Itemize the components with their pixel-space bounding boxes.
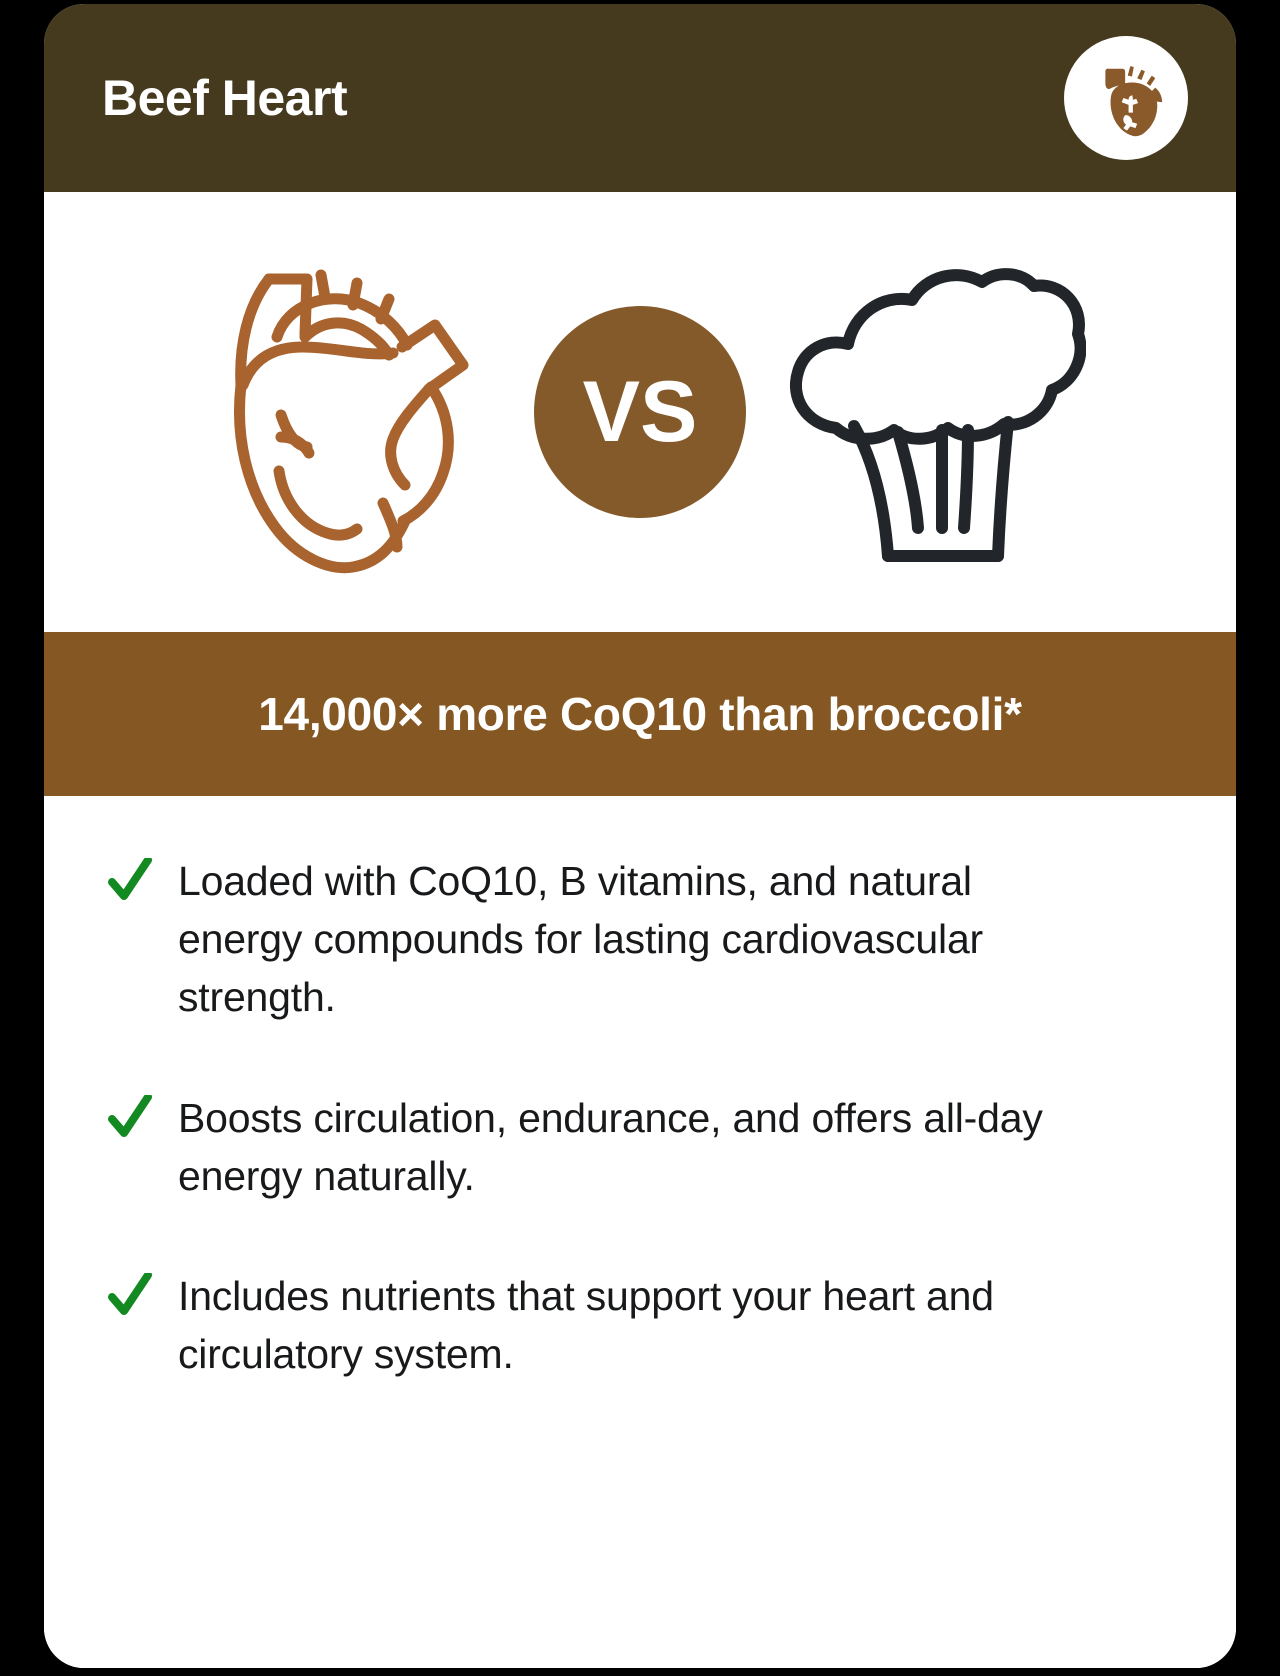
broccoli-outline-icon bbox=[776, 252, 1086, 572]
highlight-banner: 14,000× more CoQ10 than broccoli* bbox=[44, 632, 1236, 796]
heart-organ-icon bbox=[1083, 55, 1169, 141]
banner-text: 14,000× more CoQ10 than broccoli* bbox=[218, 688, 1061, 741]
check-icon bbox=[108, 1273, 152, 1321]
page-title: Beef Heart bbox=[102, 73, 347, 123]
list-item: Boosts circulation, endurance, and offer… bbox=[108, 1089, 1176, 1205]
vs-badge: VS bbox=[534, 306, 746, 518]
compare-cell-right bbox=[746, 252, 1116, 572]
header-badge bbox=[1064, 36, 1188, 160]
list-item-label: Boosts circulation, endurance, and offer… bbox=[178, 1089, 1078, 1205]
compare-cell-left bbox=[164, 247, 534, 577]
product-comparison-card: Beef Heart bbox=[44, 4, 1236, 1668]
anatomical-heart-outline-icon bbox=[217, 247, 482, 577]
list-item-label: Includes nutrients that support your hea… bbox=[178, 1267, 1078, 1383]
check-icon bbox=[108, 858, 152, 906]
comparison-row: VS bbox=[44, 192, 1236, 632]
list-item-label: Loaded with CoQ10, B vitamins, and natur… bbox=[178, 852, 1078, 1027]
list-item: Loaded with CoQ10, B vitamins, and natur… bbox=[108, 852, 1176, 1027]
card-header: Beef Heart bbox=[44, 4, 1236, 192]
list-item: Includes nutrients that support your hea… bbox=[108, 1267, 1176, 1383]
benefits-list: Loaded with CoQ10, B vitamins, and natur… bbox=[44, 796, 1236, 1668]
check-icon bbox=[108, 1095, 152, 1143]
